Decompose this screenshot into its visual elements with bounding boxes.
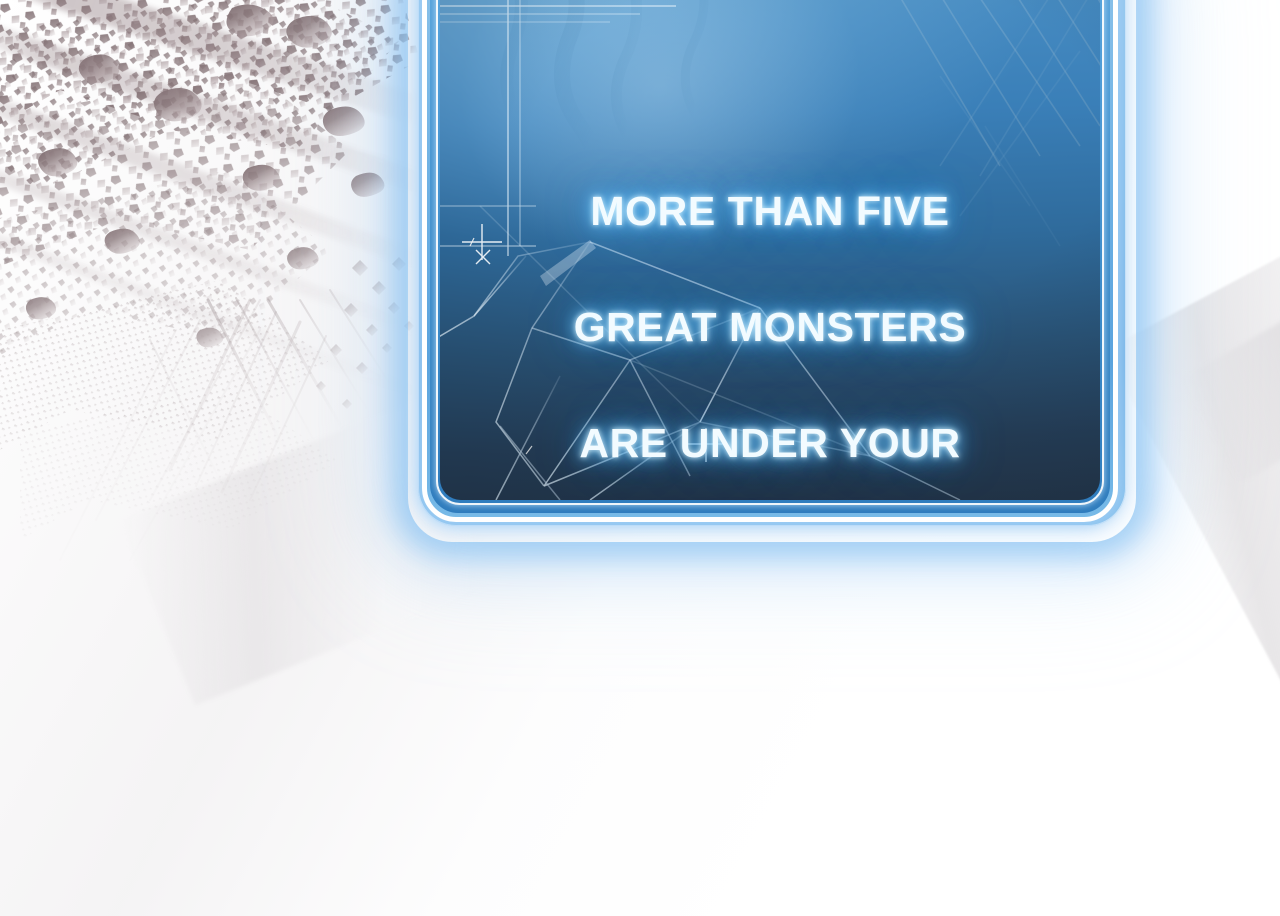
comic-page: MORE THAN FIVE GREAT MONSTERS ARE UNDER … bbox=[0, 0, 1280, 916]
panel-headline: MORE THAN FIVE GREAT MONSTERS ARE UNDER … bbox=[440, 124, 1100, 500]
headline-line-3: ARE UNDER YOUR bbox=[440, 414, 1100, 472]
grunge-texture bbox=[0, 0, 470, 660]
headline-line-2: GREAT MONSTERS bbox=[440, 298, 1100, 356]
panel-interior: MORE THAN FIVE GREAT MONSTERS ARE UNDER … bbox=[440, 0, 1100, 500]
headline-line-1: MORE THAN FIVE bbox=[440, 182, 1100, 240]
